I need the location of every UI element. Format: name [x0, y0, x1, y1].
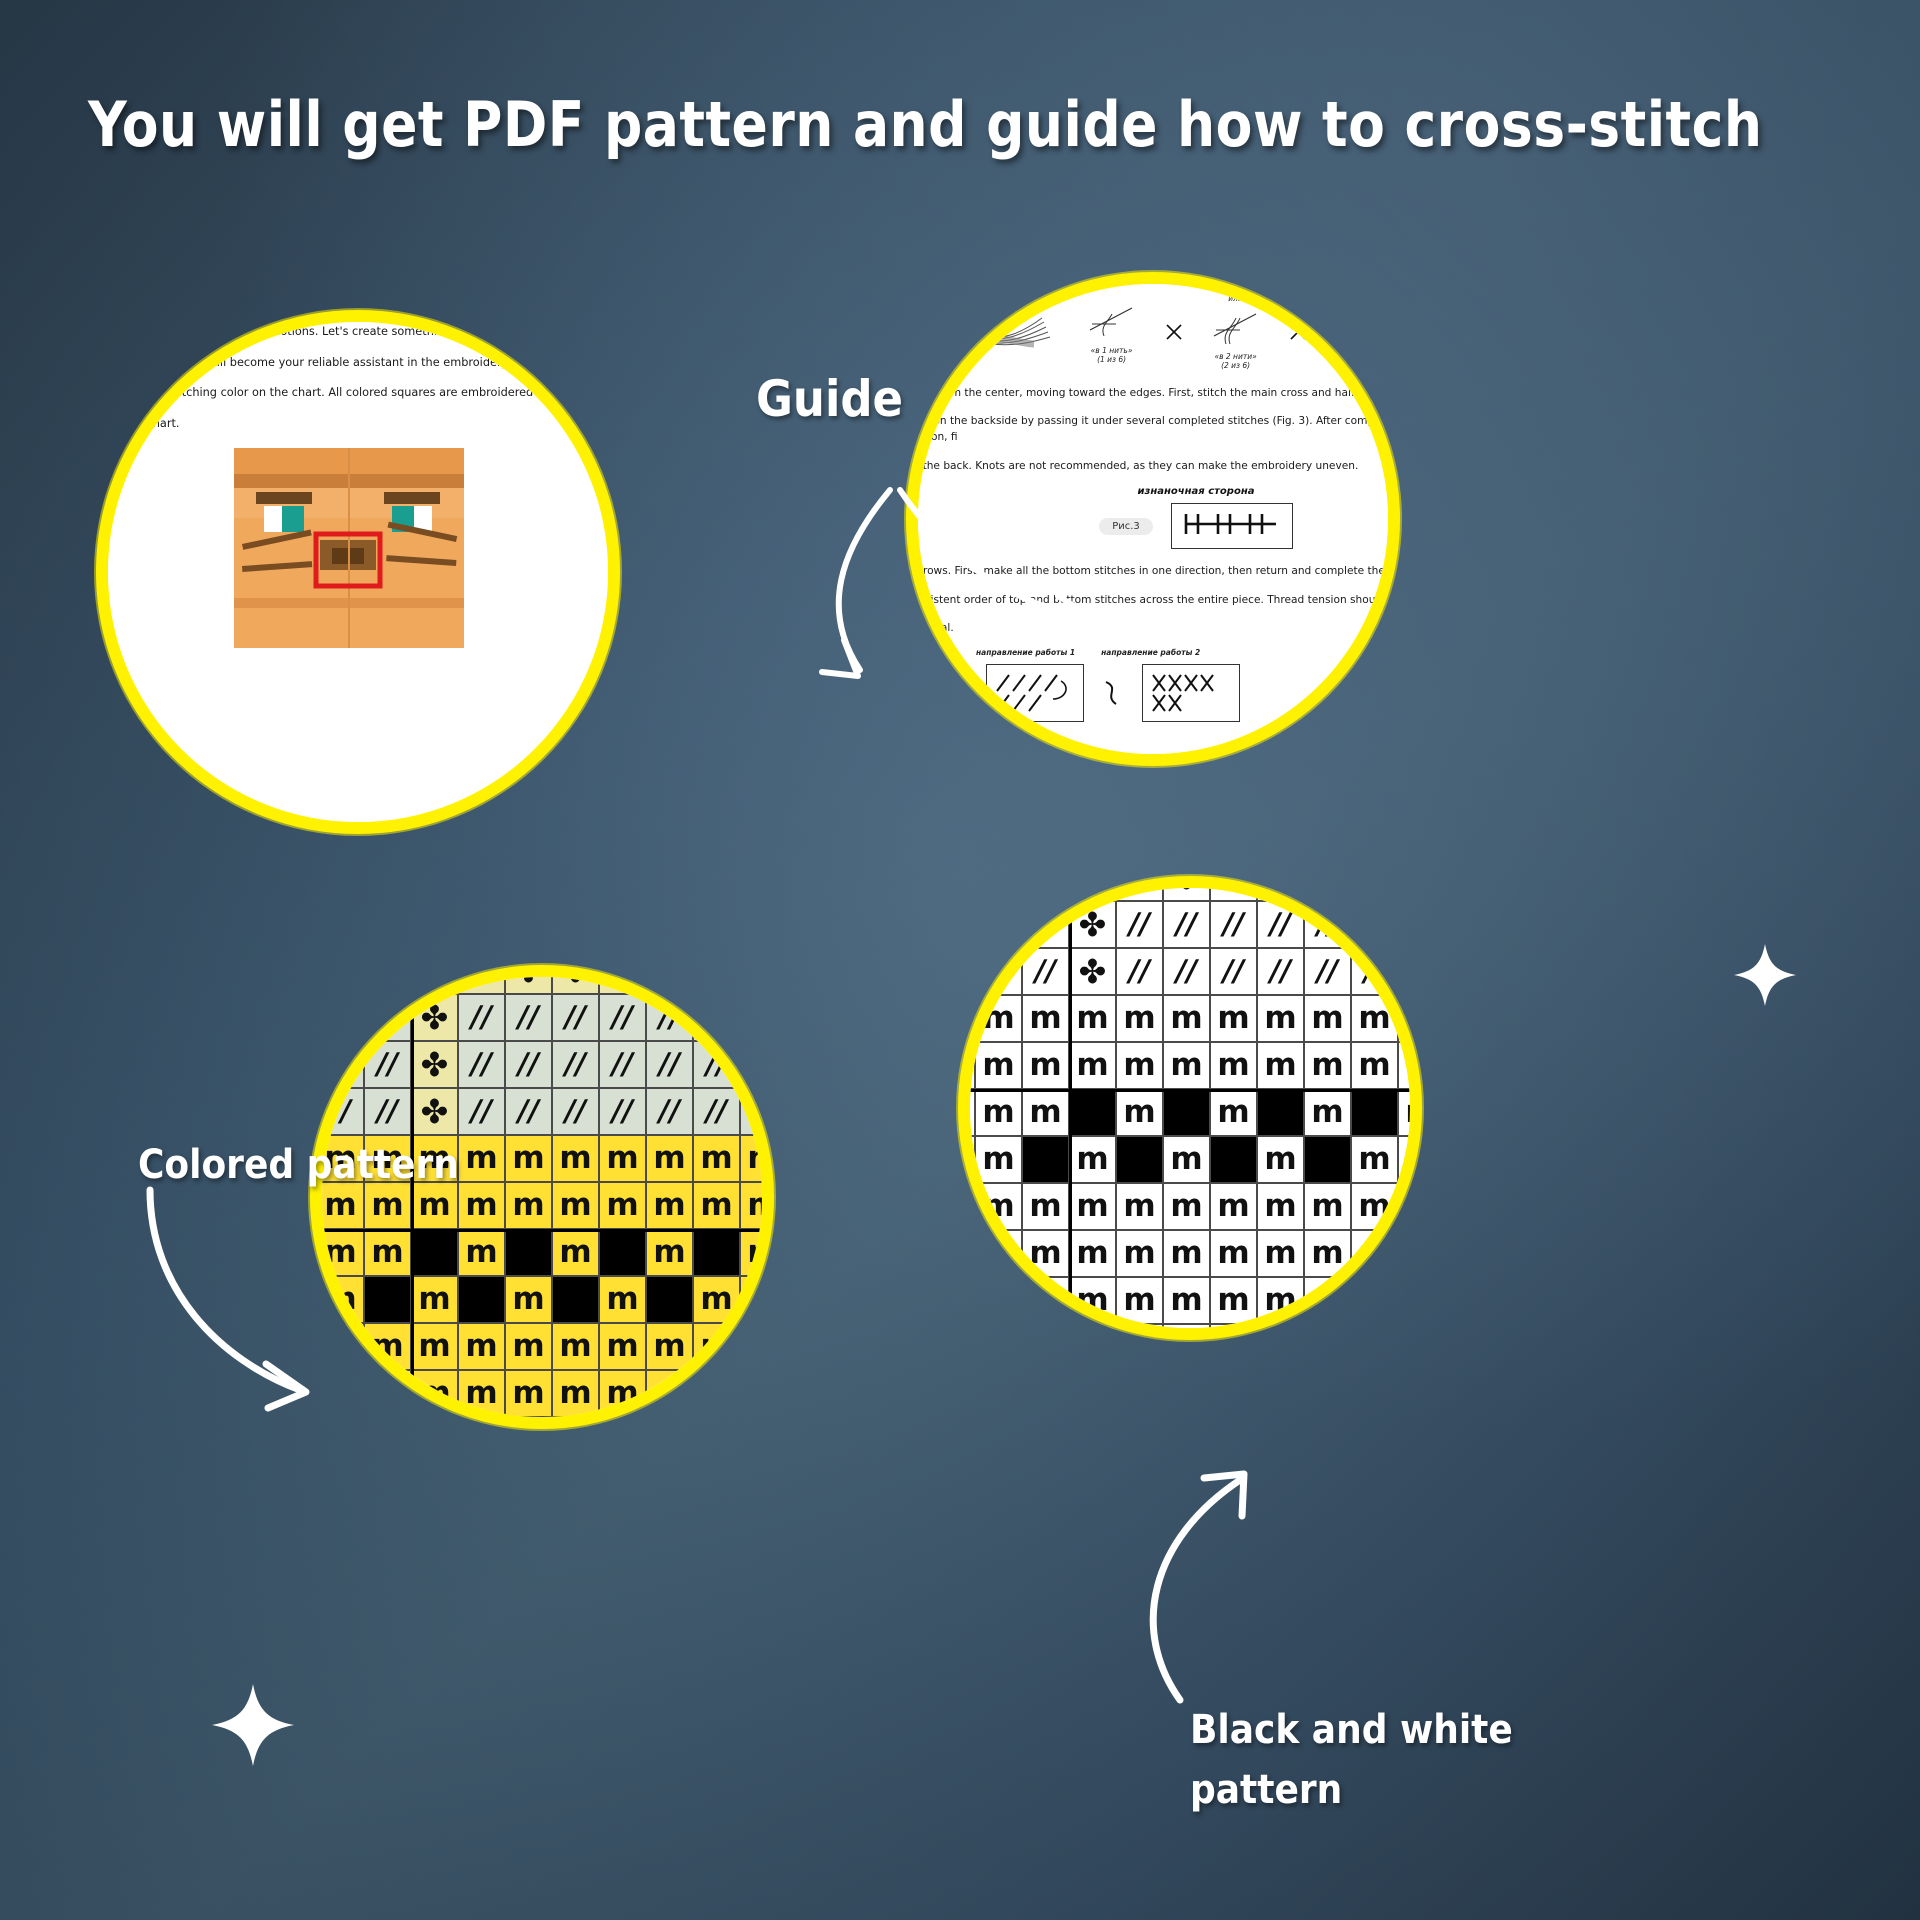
pattern-cell: m	[958, 1183, 975, 1230]
pattern-symbol-slash: //	[958, 957, 962, 986]
pattern-cell: m	[646, 1135, 693, 1182]
pattern-cell: m	[1351, 1230, 1398, 1277]
pattern-cell: ✤	[411, 1041, 458, 1088]
pattern-cell: m	[1116, 1183, 1163, 1230]
pattern-cell: m	[364, 1182, 411, 1229]
circle-clip-guide: and “embroidering with two str Рис.2	[906, 272, 1400, 766]
pattern-symbol-clover: ✤	[609, 965, 637, 987]
pattern-cell: m	[693, 1323, 740, 1370]
pattern-cell: m	[1351, 995, 1398, 1042]
pattern-symbol-m: m	[1076, 1285, 1108, 1316]
pattern-symbol-m: m	[1405, 1003, 1422, 1034]
pattern-cell: //	[310, 1088, 317, 1135]
pattern-cell	[646, 1276, 693, 1323]
pattern-symbol-m: m	[958, 1191, 968, 1222]
pattern-cell: //	[1257, 876, 1304, 901]
preview-circle-bw-pattern[interactable]: ////✤////✤////✤//////////✤//////////////…	[958, 876, 1422, 1340]
pattern-symbol-m: m	[982, 1285, 1014, 1316]
pattern-symbol-m: m	[1264, 1191, 1296, 1222]
pattern-symbol-m: m	[371, 1378, 403, 1409]
pattern-symbol-m: m	[1358, 1191, 1390, 1222]
pattern-cell: m	[310, 1370, 317, 1417]
pattern-symbol-slash: //	[612, 1050, 633, 1079]
pattern-symbol-m: m	[512, 1425, 544, 1429]
pattern-cell: //	[317, 994, 364, 1041]
preview-circle-intro-document[interactable]: our cozy crafting corner. Your choice of…	[96, 310, 620, 834]
pattern-symbol-slash: //	[565, 1050, 586, 1079]
page-title: You will get PDF pattern and guide how t…	[88, 92, 1797, 157]
pattern-cell: m	[599, 1182, 646, 1229]
label-colored-pattern: Colored pattern	[138, 1142, 459, 1188]
pattern-symbol-slash: //	[753, 1003, 774, 1032]
pattern-cell: //	[599, 1041, 646, 1088]
pattern-cell: //	[552, 1088, 599, 1135]
direction-hook-icon	[1100, 678, 1126, 708]
pattern-cell: m	[1304, 1183, 1351, 1230]
figure-tag-3: Рис.3	[1099, 518, 1153, 535]
pattern-symbol-slash: //	[565, 1097, 586, 1126]
pattern-cell: m	[1304, 1324, 1351, 1340]
label-bw-line1: Black and white	[1190, 1700, 1590, 1760]
pattern-cell: m	[1304, 1089, 1351, 1136]
pattern-symbol-slash: //	[1317, 910, 1338, 939]
pattern-cell: m	[552, 1229, 599, 1276]
pattern-symbol-slash: //	[988, 876, 1009, 892]
pattern-symbol-m: m	[324, 1237, 356, 1268]
pattern-symbol-m: m	[324, 1284, 356, 1315]
pattern-symbol-slash: //	[1270, 910, 1291, 939]
pattern-symbol-slash: //	[471, 1050, 492, 1079]
pattern-cell: m	[975, 1324, 1022, 1340]
pattern-cell: m	[1116, 1277, 1163, 1324]
pattern-symbol-slash: //	[518, 1003, 539, 1032]
pattern-cell: m	[1398, 1136, 1422, 1183]
pattern-symbol-m: m	[1358, 1050, 1390, 1081]
pattern-symbol-m: m	[559, 1190, 591, 1221]
pattern-symbol-m: m	[418, 1331, 450, 1362]
pattern-symbol-m: m	[324, 1378, 356, 1409]
pattern-symbol-m: m	[958, 1003, 968, 1034]
pattern-symbol-m: m	[418, 1190, 450, 1221]
pattern-symbol-clover: ✤	[468, 965, 496, 987]
pattern-symbol-m: m	[512, 1378, 544, 1409]
pattern-symbol-m: m	[418, 1378, 450, 1409]
pattern-symbol-slash: //	[659, 1097, 680, 1126]
pattern-symbol-clover: ✤	[1079, 908, 1107, 941]
pattern-cell: m	[364, 1229, 411, 1276]
pattern-symbol-clover: ✤	[656, 965, 684, 987]
pattern-symbol-m: m	[1311, 1332, 1343, 1340]
pattern-symbol-m: m	[1264, 1332, 1296, 1340]
pattern-cell: m	[317, 1276, 364, 1323]
pattern-symbol-m: m	[1358, 1144, 1390, 1175]
pattern-cell: m	[364, 1323, 411, 1370]
pattern-cell: m	[958, 1042, 975, 1089]
pattern-cell: m	[552, 1135, 599, 1182]
pattern-symbol-m: m	[1029, 1097, 1061, 1128]
pattern-cell: m	[317, 1417, 364, 1429]
pattern-cell: m	[693, 1182, 740, 1229]
pattern-symbol-m: m	[1358, 1332, 1390, 1340]
pattern-cell: m	[310, 1323, 317, 1370]
pattern-symbol-m: m	[700, 1425, 732, 1429]
pattern-cell: m	[975, 995, 1022, 1042]
pattern-cell: //	[958, 901, 975, 948]
pattern-cell: ✤	[411, 1088, 458, 1135]
pattern-symbol-m: m	[1264, 1238, 1296, 1269]
figure-caption: (2 из 6)	[1221, 361, 1250, 370]
pattern-cell: m	[599, 1323, 646, 1370]
pattern-cell: //	[646, 1088, 693, 1135]
pattern-cell: m	[958, 1230, 975, 1277]
pattern-symbol-m: m	[559, 1237, 591, 1268]
pattern-cell: m	[1069, 1277, 1116, 1324]
pattern-cell: //	[1022, 901, 1069, 948]
intro-paragraph: d on the chart.	[96, 415, 620, 433]
pattern-cell: ✤	[411, 965, 458, 994]
pattern-cell: m	[317, 1182, 364, 1229]
pattern-symbol-slash: //	[612, 1097, 633, 1126]
pattern-symbol-m: m	[465, 1190, 497, 1221]
pattern-cell: m	[1351, 1136, 1398, 1183]
pattern-cell: m	[1069, 1230, 1116, 1277]
pattern-symbol-slash: //	[958, 876, 962, 892]
figure-4-diagram-left	[986, 664, 1084, 722]
pattern-symbol-slash: //	[753, 1097, 774, 1126]
pattern-symbol-m: m	[700, 1378, 732, 1409]
pattern-cell: ✤	[458, 965, 505, 994]
pattern-symbol-m: m	[700, 1284, 732, 1315]
pattern-cell: //	[646, 994, 693, 1041]
pattern-symbol-m: m	[324, 1425, 356, 1429]
pattern-cell: m	[1210, 1230, 1257, 1277]
pattern-cell: m	[740, 1417, 774, 1429]
pattern-cell: //	[693, 1041, 740, 1088]
pattern-cell: m	[310, 1229, 317, 1276]
guide-paragraph: on the back. Knots are not recommended, …	[906, 458, 1400, 474]
pattern-cell: m	[411, 1417, 458, 1429]
pattern-cell: m	[458, 1323, 505, 1370]
pattern-cell: m	[458, 1135, 505, 1182]
pattern-cell: ✤	[364, 965, 411, 994]
pattern-cell: //	[1210, 901, 1257, 948]
pattern-symbol-m: m	[324, 1190, 356, 1221]
pattern-cell: m	[1069, 1042, 1116, 1089]
pattern-symbol-slash: //	[377, 1050, 398, 1079]
pattern-symbol-m: m	[1170, 1003, 1202, 1034]
pattern-cell: m	[1163, 1136, 1210, 1183]
pattern-cell: m	[1398, 1089, 1422, 1136]
pattern-cell: m	[958, 1277, 975, 1324]
figure-4-diagram-right	[1142, 664, 1240, 722]
pattern-cell: m	[975, 1230, 1022, 1277]
pattern-cell: //	[740, 994, 774, 1041]
pattern-symbol-m: m	[1029, 1285, 1061, 1316]
pattern-symbol-m: m	[1123, 1097, 1155, 1128]
pattern-cell: //	[693, 994, 740, 1041]
pattern-cell: //	[646, 1041, 693, 1088]
pattern-cell	[458, 1276, 505, 1323]
pattern-cell: m	[505, 1370, 552, 1417]
pattern-symbol-slash: //	[659, 1003, 680, 1032]
pattern-symbol-slash: //	[659, 1050, 680, 1079]
intro-document-page: our cozy crafting corner. Your choice of…	[96, 310, 620, 834]
pattern-cell: //	[458, 994, 505, 1041]
pattern-cell: m	[646, 1229, 693, 1276]
pattern-symbol-m: m	[606, 1378, 638, 1409]
pattern-symbol-m: m	[1217, 1285, 1249, 1316]
pattern-symbol-clover: ✤	[562, 965, 590, 987]
pattern-cell: //	[1304, 948, 1351, 995]
pattern-symbol-m: m	[606, 1190, 638, 1221]
pattern-cell: m	[458, 1229, 505, 1276]
pattern-symbol-m: m	[747, 1378, 774, 1409]
pattern-symbol-slash: //	[377, 1097, 398, 1126]
pattern-symbol-slash: //	[753, 1050, 774, 1079]
pattern-cell: m	[740, 1370, 774, 1417]
pattern-symbol-m: m	[1264, 1144, 1296, 1175]
pattern-symbol-m: m	[747, 1284, 774, 1315]
pattern-symbol-m: m	[1076, 1332, 1108, 1340]
pattern-cell: //	[1304, 901, 1351, 948]
pattern-symbol-slash: //	[1035, 957, 1056, 986]
pattern-cell: m	[505, 1323, 552, 1370]
pattern-cell: m	[1163, 1183, 1210, 1230]
figure-row-4: Рис.4	[906, 664, 1400, 722]
pattern-cell: m	[1022, 1042, 1069, 1089]
pattern-symbol-m: m	[653, 1331, 685, 1362]
pattern-symbol-m: m	[653, 1425, 685, 1429]
pattern-cell: ✤	[646, 965, 693, 994]
pattern-cell	[1351, 1089, 1398, 1136]
grid-major-line-vertical	[411, 965, 414, 1429]
pattern-symbol-m: m	[1311, 1097, 1343, 1128]
pattern-cell: //	[505, 1041, 552, 1088]
pattern-symbol-slash: //	[1129, 957, 1150, 986]
pattern-symbol-clover: ✤	[1079, 955, 1107, 988]
pattern-symbol-m: m	[512, 1284, 544, 1315]
pattern-cell: //	[552, 994, 599, 1041]
pattern-symbol-slash: //	[330, 1097, 351, 1126]
pattern-symbol-m: m	[653, 1378, 685, 1409]
pattern-symbol-m: m	[982, 1238, 1014, 1269]
pattern-symbol-slash: //	[706, 1097, 727, 1126]
pattern-cell: ✤	[505, 965, 552, 994]
pattern-cell: m	[1163, 995, 1210, 1042]
pattern-cell: ✤	[599, 965, 646, 994]
pattern-symbol-m: m	[1029, 1003, 1061, 1034]
pattern-symbol-m: m	[1405, 1191, 1422, 1222]
pattern-symbol-m: m	[1029, 1050, 1061, 1081]
pattern-symbol-m: m	[1123, 1191, 1155, 1222]
intro-paragraph: onds to the matching color on the chart.…	[96, 384, 620, 402]
pattern-symbol-m: m	[1076, 1144, 1108, 1175]
pattern-symbol-m: m	[512, 1143, 544, 1174]
pattern-symbol-m: m	[371, 1331, 403, 1362]
grid-major-line-horizontal	[958, 1089, 1422, 1092]
pattern-cell: //	[364, 1088, 411, 1135]
pattern-symbol-m: m	[1358, 1238, 1390, 1269]
circle-clip-bw: ////✤////✤////✤//////////✤//////////////…	[958, 876, 1422, 1340]
colored-pattern-grid[interactable]: ✤✤✤✤✤✤✤✤✤✤✤//////✤////////////////////✤/…	[310, 965, 774, 1429]
pattern-symbol-clover: ✤	[421, 1095, 449, 1128]
pattern-cell: m	[958, 1089, 975, 1136]
pattern-cell	[1022, 1136, 1069, 1183]
pattern-cell: m	[599, 1135, 646, 1182]
pattern-symbol-slash: //	[1129, 910, 1150, 939]
pattern-cell: //	[693, 1088, 740, 1135]
pattern-symbol-m: m	[1123, 1050, 1155, 1081]
preview-circle-guide-document[interactable]: and “embroidering with two str Рис.2	[906, 272, 1400, 766]
pattern-symbol-m: m	[371, 1425, 403, 1429]
pattern-preview-illustration	[234, 448, 464, 648]
pattern-symbol-slash: //	[565, 1003, 586, 1032]
pattern-cell: m	[317, 1370, 364, 1417]
pattern-cell	[1163, 1089, 1210, 1136]
pattern-symbol-m: m	[700, 1143, 732, 1174]
pattern-cell: m	[1304, 1230, 1351, 1277]
pattern-cell: //	[310, 1041, 317, 1088]
pattern-symbol-m: m	[747, 1190, 774, 1221]
pattern-cell: m	[411, 1276, 458, 1323]
pattern-symbol-slash: //	[1364, 876, 1385, 892]
pattern-symbol-slash: //	[1270, 957, 1291, 986]
intro-paragraph: your life with new colors and emotions. …	[96, 323, 620, 341]
pattern-symbol-m: m	[1076, 1191, 1108, 1222]
pattern-cell: m	[1022, 1324, 1069, 1340]
figure-row-2: Рис.2	[906, 294, 1400, 370]
circle-clip-colored: ✤✤✤✤✤✤✤✤✤✤✤//////✤////////////////////✤/…	[310, 965, 774, 1429]
pattern-symbol-m: m	[653, 1190, 685, 1221]
pattern-symbol-slash: //	[1364, 910, 1385, 939]
pattern-cell	[693, 1229, 740, 1276]
grid-major-line-vertical	[1069, 876, 1072, 1340]
pattern-cell: m	[1304, 995, 1351, 1042]
pattern-cell: m	[317, 1323, 364, 1370]
pattern-symbol-slash: //	[958, 910, 962, 939]
pattern-cell: m	[1210, 1089, 1257, 1136]
pattern-symbol-clover: ✤	[327, 965, 355, 987]
pixel-face-svg	[234, 448, 464, 648]
pattern-cell: m	[1398, 1277, 1422, 1324]
pattern-symbol-m: m	[1311, 1050, 1343, 1081]
pattern-symbol-slash: //	[988, 910, 1009, 939]
pattern-cell: m	[505, 1417, 552, 1429]
pattern-cell: ✤	[317, 965, 364, 994]
pattern-cell: //	[1210, 876, 1257, 901]
arrow-bw-pattern	[1110, 1430, 1410, 1730]
half-stitch-direction-icon	[987, 665, 1083, 717]
pattern-cell: m	[411, 1323, 458, 1370]
pattern-symbol-m: m	[1405, 1144, 1422, 1175]
pattern-cell: m	[975, 1183, 1022, 1230]
pattern-cell: ✤	[411, 994, 458, 1041]
pattern-symbol-m: m	[982, 1191, 1014, 1222]
pattern-symbol-slash: //	[471, 1097, 492, 1126]
pattern-cell: m	[1210, 1277, 1257, 1324]
pattern-symbol-slash: //	[1223, 910, 1244, 939]
sparkle-large-icon	[208, 1680, 298, 1770]
cross-mark-icon	[1164, 322, 1184, 342]
pattern-symbol-m: m	[982, 1144, 1014, 1175]
pattern-cell	[1257, 1089, 1304, 1136]
pattern-symbol-slash: //	[1176, 957, 1197, 986]
figure-4-label-right: направление работы 2	[1101, 648, 1200, 657]
pattern-symbol-m: m	[1358, 1003, 1390, 1034]
pattern-symbol-m: m	[747, 1331, 774, 1362]
bw-pattern-grid[interactable]: ////✤////✤////✤//////////✤//////////////…	[958, 876, 1422, 1340]
pattern-cell: //	[975, 901, 1022, 948]
pattern-cell: //	[1163, 901, 1210, 948]
pattern-symbol-m: m	[1405, 1238, 1422, 1269]
pattern-cell: m	[458, 1370, 505, 1417]
pattern-cell	[599, 1229, 646, 1276]
pattern-cell: //	[599, 994, 646, 1041]
pattern-symbol-slash: //	[1035, 910, 1056, 939]
pattern-cell: //	[1398, 901, 1422, 948]
pattern-cell: m	[1304, 1277, 1351, 1324]
pattern-symbol-slash: //	[1176, 910, 1197, 939]
pattern-cell: m	[975, 1136, 1022, 1183]
back-stitch-diagram-icon	[1172, 504, 1292, 544]
pattern-cell: m	[1116, 1042, 1163, 1089]
pattern-symbol-slash: //	[518, 1097, 539, 1126]
pattern-symbol-m: m	[747, 1237, 774, 1268]
pattern-cell: m	[505, 1276, 552, 1323]
pattern-symbol-clover: ✤	[421, 965, 449, 987]
pattern-cell: //	[552, 1041, 599, 1088]
preview-circle-colored-pattern[interactable]: ✤✤✤✤✤✤✤✤✤✤✤//////✤////////////////////✤/…	[310, 965, 774, 1429]
pattern-symbol-slash: //	[706, 1003, 727, 1032]
pattern-symbol-m: m	[1311, 1238, 1343, 1269]
pattern-symbol-m: m	[1170, 1285, 1202, 1316]
pattern-cell: //	[1022, 948, 1069, 995]
guide-paragraph: ured on the backside by passing it under…	[906, 413, 1400, 446]
pattern-cell: m	[958, 1324, 975, 1340]
pattern-cell: m	[1398, 1042, 1422, 1089]
pattern-cell: m	[310, 1182, 317, 1229]
pattern-symbol-slash: //	[1129, 876, 1150, 892]
full-cross-direction-icon	[1143, 665, 1239, 717]
pattern-cell: m	[1069, 1136, 1116, 1183]
pattern-cell: m	[646, 1323, 693, 1370]
pattern-cell: //	[1116, 901, 1163, 948]
pattern-symbol-m: m	[653, 1143, 685, 1174]
pattern-cell: m	[1257, 1183, 1304, 1230]
pattern-symbol-m: m	[1405, 1097, 1422, 1128]
pattern-symbol-m: m	[418, 1284, 450, 1315]
pattern-symbol-m: m	[1029, 1191, 1061, 1222]
pattern-symbol-slash: //	[518, 1050, 539, 1079]
pattern-cell: m	[975, 1042, 1022, 1089]
figure-tag-4: Рис.4	[916, 684, 970, 701]
pattern-symbol-slash: //	[988, 957, 1009, 986]
pattern-cell: //	[740, 1088, 774, 1135]
pattern-symbol-slash: //	[1411, 876, 1422, 892]
pattern-cell: m	[317, 1229, 364, 1276]
pattern-cell: m	[1116, 1324, 1163, 1340]
label-bw-line2: pattern	[1190, 1760, 1590, 1820]
figure-3-heading: изнаночная сторона	[906, 486, 1400, 497]
pattern-symbol-clover: ✤	[750, 965, 774, 987]
pattern-cell: m	[1257, 1042, 1304, 1089]
pattern-symbol-m: m	[559, 1425, 591, 1429]
pattern-cell: m	[1257, 1136, 1304, 1183]
pattern-cell: m	[958, 995, 975, 1042]
pattern-symbol-m: m	[1264, 1285, 1296, 1316]
pattern-cell: m	[1163, 1230, 1210, 1277]
pattern-cell: //	[1116, 948, 1163, 995]
